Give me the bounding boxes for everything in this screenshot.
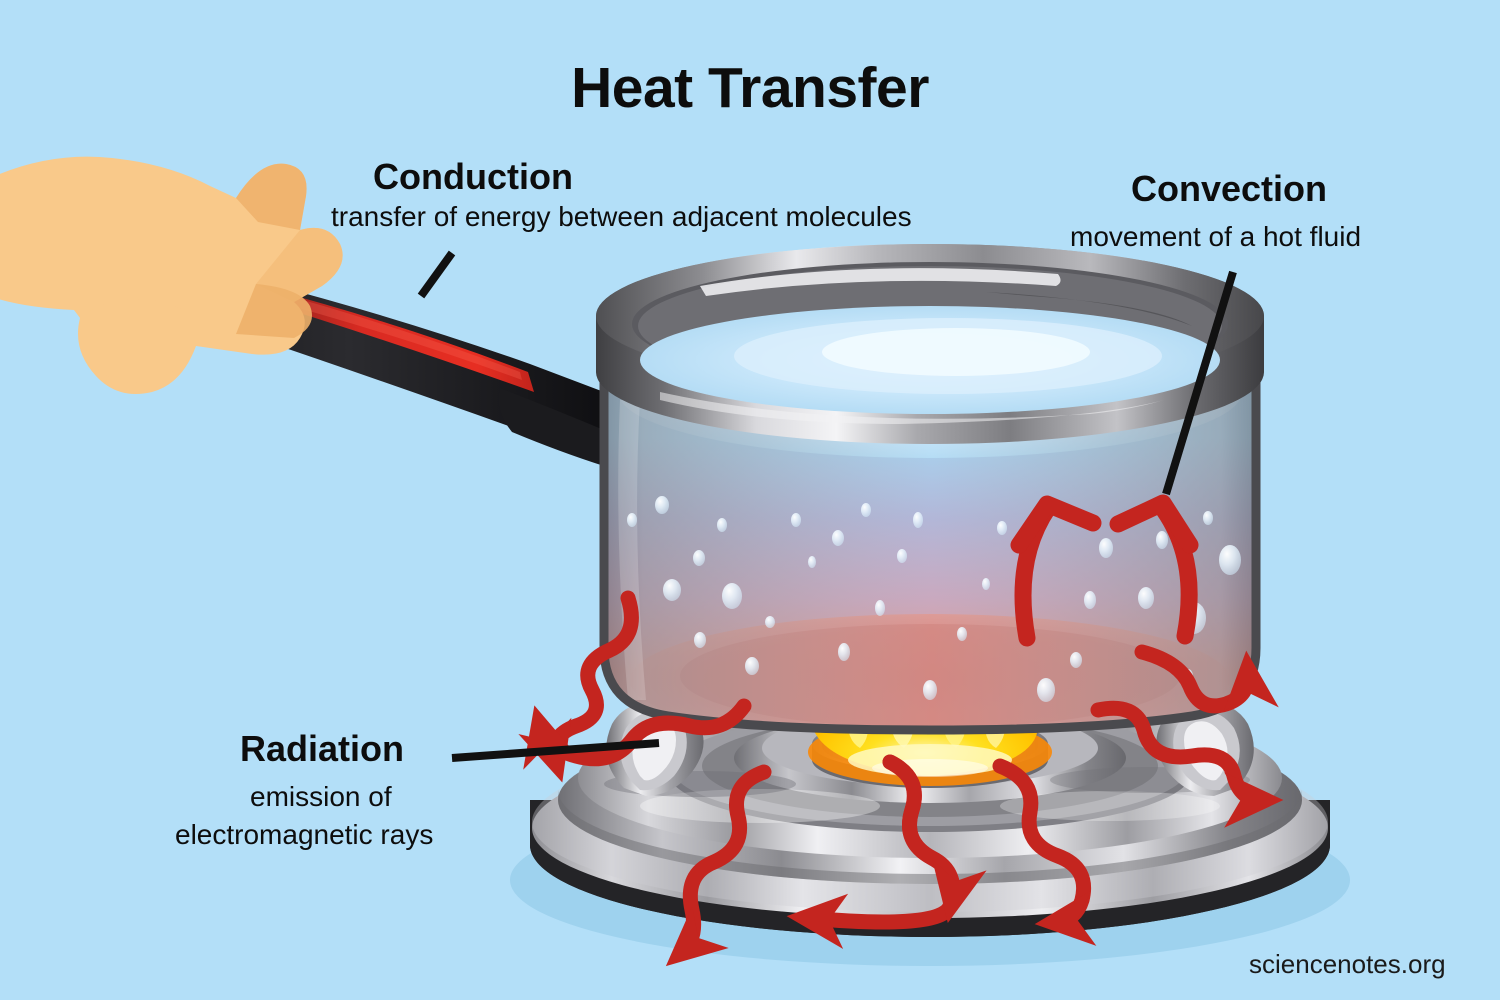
radiation-heading: Radiation xyxy=(240,730,404,769)
conduction-heading: Conduction xyxy=(373,158,573,197)
radiation-description-line-1: emission of xyxy=(250,782,392,812)
page-title: Heat Transfer xyxy=(0,58,1500,120)
radiation-description-line-2: electromagnetic rays xyxy=(175,820,433,850)
convection-heading: Convection xyxy=(1131,170,1327,209)
conduction-description: transfer of energy between adjacent mole… xyxy=(331,202,912,232)
convection-description: movement of a hot fluid xyxy=(1070,222,1361,252)
attribution-text: sciencenotes.org xyxy=(1249,950,1446,978)
diagram-canvas: Heat Transfer Conduction transfer of ene… xyxy=(0,0,1500,1000)
